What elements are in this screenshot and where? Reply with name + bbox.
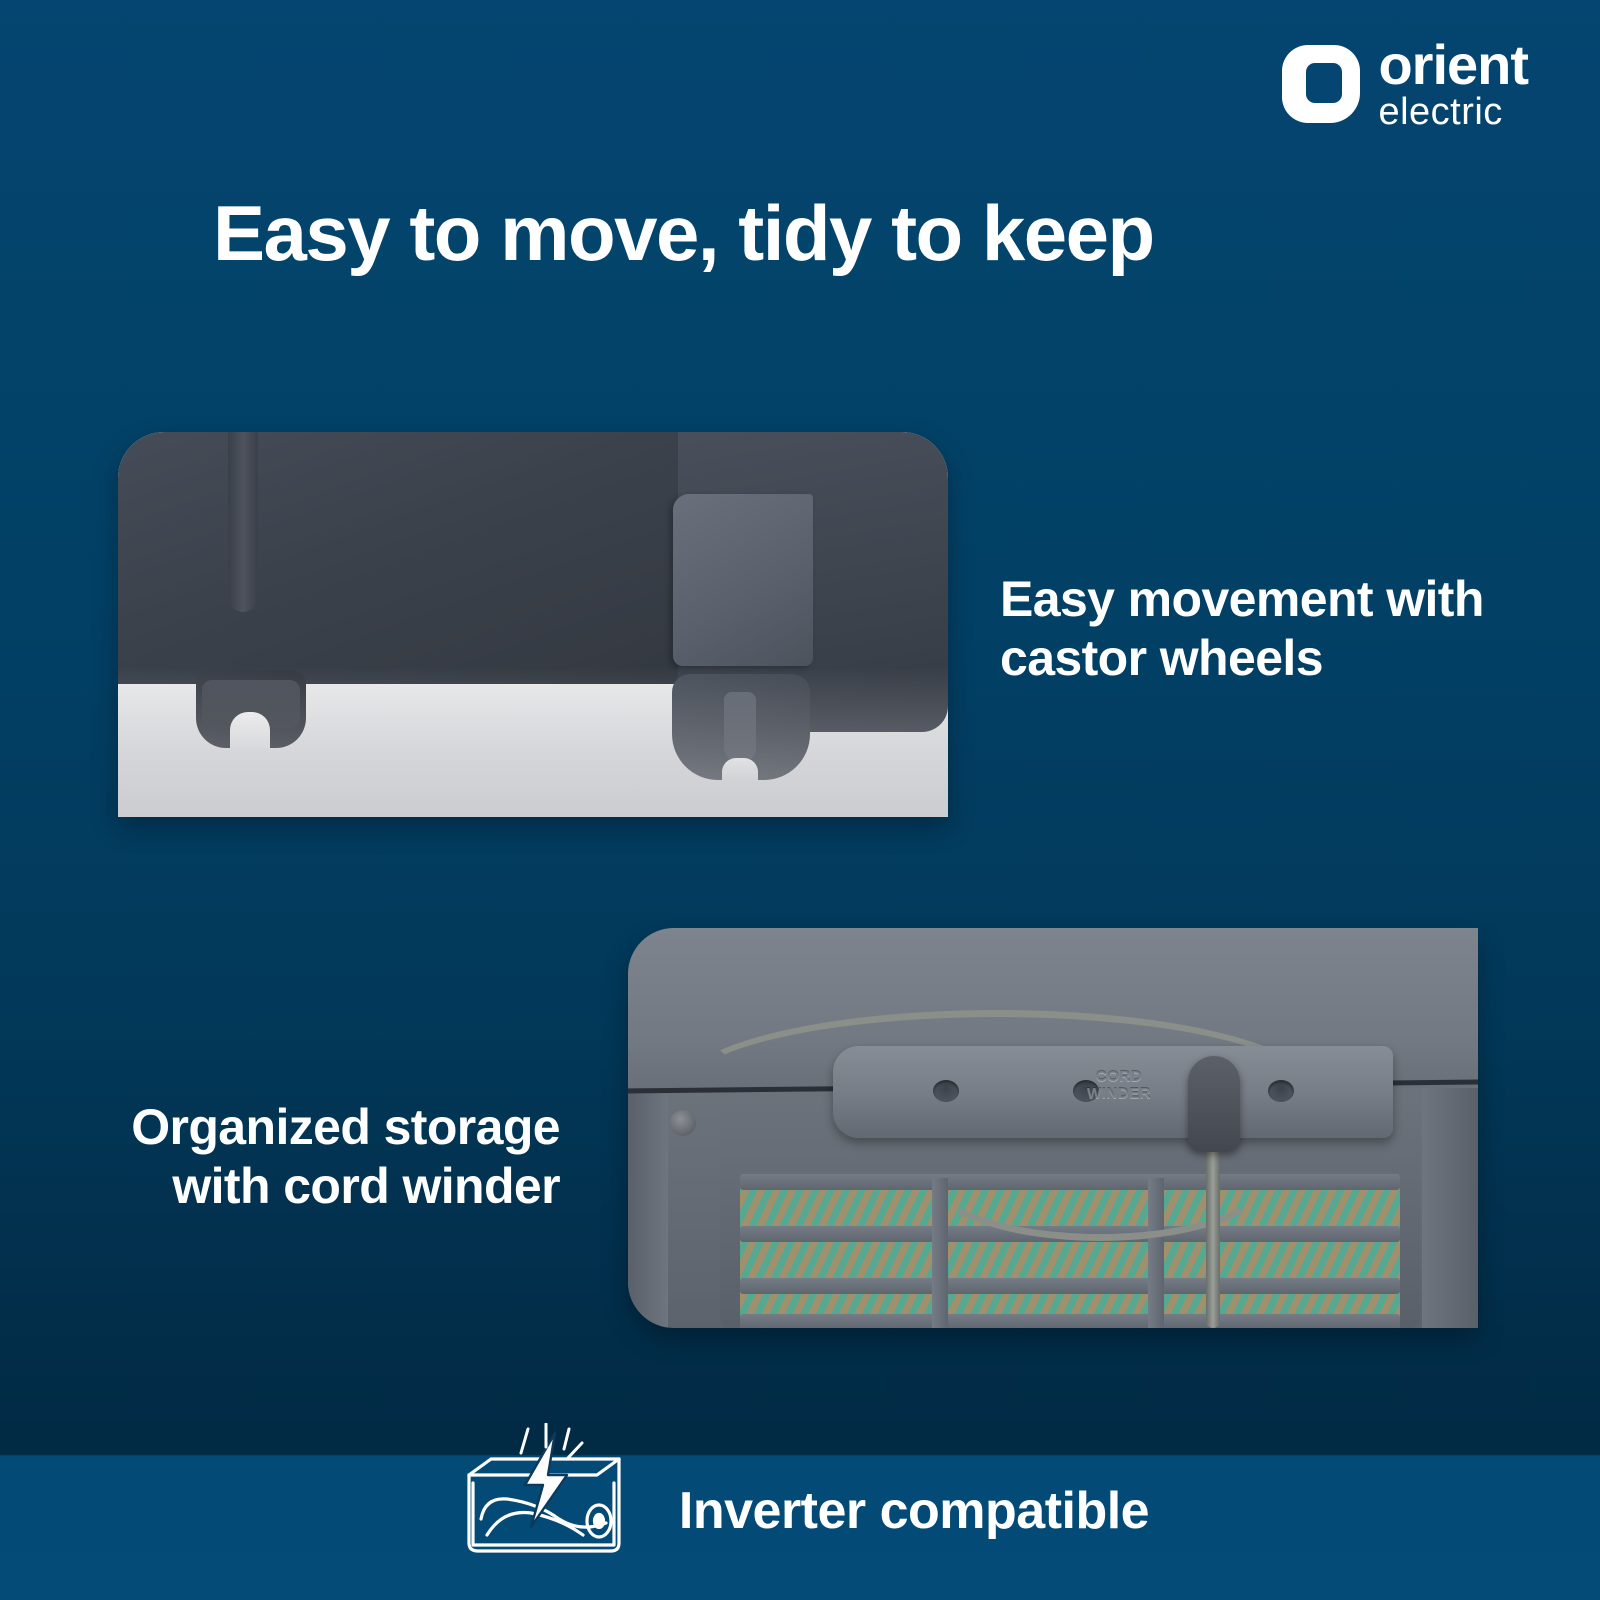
brand-wordmark: orient electric xyxy=(1378,38,1528,130)
castor-wheels-caption: Easy movement with castor wheels xyxy=(1000,570,1484,688)
emboss-line-2: WINDER xyxy=(1069,1085,1169,1102)
brand-logo: orient electric xyxy=(1282,38,1528,130)
castor-wheels-photo xyxy=(118,432,948,817)
inverter-compatible-label: Inverter compatible xyxy=(679,1455,1149,1541)
bracket-hole xyxy=(1268,1080,1294,1102)
emboss-line-1: CORD xyxy=(1069,1068,1169,1085)
brand-name: orient xyxy=(1378,38,1528,91)
cooler-body-rib xyxy=(228,432,258,612)
logo-inner-cutout xyxy=(1306,63,1342,103)
grill-slat xyxy=(740,1278,1400,1294)
cord-anchor-point xyxy=(670,1110,696,1136)
castor-caption-line-2: castor wheels xyxy=(1000,629,1484,688)
orient-logo-icon xyxy=(1282,45,1360,123)
cord-winder-caption: Organized storage with cord winder xyxy=(60,1098,560,1216)
cooler-right-edge xyxy=(1422,1088,1478,1328)
inverter-compatible-strip: Inverter compatible xyxy=(0,1395,1600,1600)
cord-winder-photo: CORD WINDER xyxy=(628,928,1478,1328)
cooler-left-edge xyxy=(628,1088,668,1328)
brand-tagline: electric xyxy=(1378,94,1528,130)
castor-caption-line-1: Easy movement with xyxy=(1000,570,1484,629)
page-title: Easy to move, tidy to keep xyxy=(213,188,1154,279)
cord-caption-line-2: with cord winder xyxy=(60,1157,560,1216)
cooler-side-panel xyxy=(673,494,813,666)
cord-caption-line-1: Organized storage xyxy=(60,1098,560,1157)
power-plug xyxy=(1188,1056,1240,1152)
cord-winder-bracket: CORD WINDER xyxy=(833,1046,1393,1138)
grill-slat xyxy=(740,1314,1400,1328)
floor-gradient xyxy=(118,667,948,817)
bracket-hole xyxy=(933,1080,959,1102)
plug-cable xyxy=(1206,1138,1220,1328)
cord-winder-emboss-text: CORD WINDER xyxy=(1069,1068,1169,1102)
product-feature-banner: orient electric Easy to move, tidy to ke… xyxy=(0,0,1600,1600)
inverter-battery-bolt-icon xyxy=(451,1423,641,1573)
